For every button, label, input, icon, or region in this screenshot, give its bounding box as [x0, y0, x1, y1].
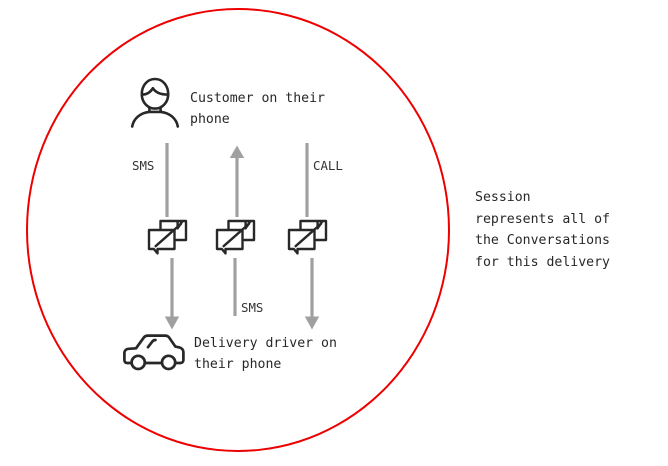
session-annotation-text: Session represents all of the Conversati…	[475, 187, 610, 273]
connector-conversation-3-to-driver	[303, 258, 321, 332]
car-icon	[123, 333, 185, 371]
edge-label-sms-lower: SMS	[241, 301, 263, 315]
connector-customer-to-conversation-1	[163, 143, 171, 217]
conversation-icon	[147, 219, 188, 255]
diagram-canvas: Customer on their phone SMS CALL	[0, 0, 668, 466]
driver-node-label: Delivery driver on their phone	[194, 333, 337, 375]
edge-label-sms-upper: SMS	[132, 159, 154, 173]
person-icon	[130, 76, 180, 128]
connector-conversation-1-to-driver	[163, 258, 181, 332]
connector-driver-to-conversation-2	[231, 258, 239, 316]
conversation-icon	[215, 219, 256, 255]
edge-label-call: CALL	[313, 159, 343, 173]
connector-customer-to-conversation-3	[303, 143, 311, 217]
customer-node-label: Customer on their phone	[190, 88, 325, 130]
connector-conversation-2-to-customer	[228, 143, 246, 217]
conversation-icon	[287, 219, 328, 255]
